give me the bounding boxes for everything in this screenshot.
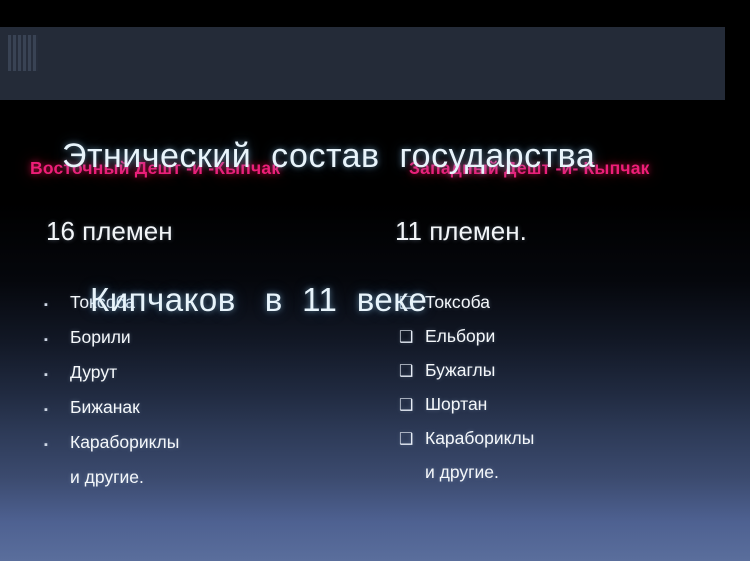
column-footer-eastern: и другие. bbox=[22, 461, 375, 493]
title-line-1: Этнический состав государства bbox=[62, 132, 750, 180]
list-item: ▪ Карабориклы bbox=[44, 426, 375, 461]
title-line-2: Кипчаков в 11 веке bbox=[62, 276, 750, 324]
column-footer-western: и другие. bbox=[389, 456, 750, 488]
presentation-slide: Этнический состав государства Кипчаков в… bbox=[0, 0, 750, 561]
filled-square-bullet-icon: ▪ bbox=[44, 429, 70, 461]
hollow-square-bullet-icon: ❑ bbox=[399, 424, 425, 456]
list-item: ❑ Карабориклы bbox=[399, 422, 750, 456]
page-title: Этнический состав государства Кипчаков в… bbox=[0, 36, 750, 420]
tribe-name: Карабориклы bbox=[70, 426, 179, 458]
tribe-name: Карабориклы bbox=[425, 422, 534, 454]
